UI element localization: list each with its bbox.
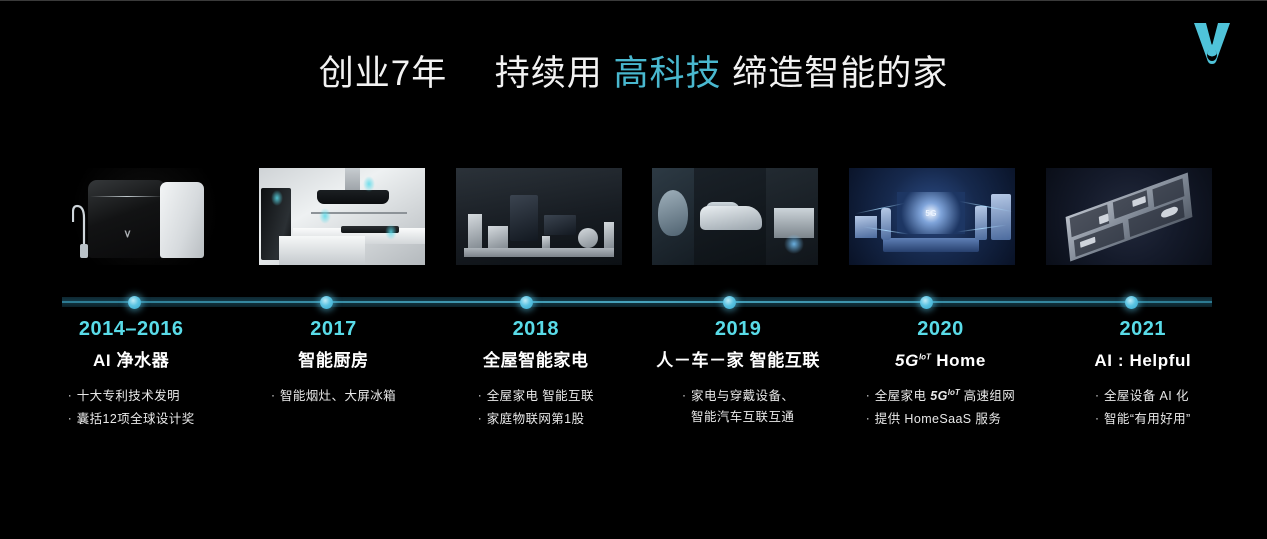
faucet-icon: [72, 196, 94, 258]
title-part-2: 持续用: [495, 54, 603, 93]
milestone-bullet-list: ·十大专利技术发明·囊括12项全球设计奖: [68, 386, 195, 429]
driver-portrait: [658, 190, 688, 236]
bullet-dot-icon: ·: [1095, 409, 1104, 429]
milestone-year: 2019: [641, 317, 835, 341]
heading-5g-label: 5GIoT: [895, 351, 931, 370]
milestone-column: 20205GIoT Home·全屋家电 5GIoT 高速组网·提供 HomeSa…: [839, 317, 1041, 457]
heading-iot-superscript: IoT: [919, 352, 931, 361]
bullet-dot-icon: ·: [866, 386, 875, 406]
milestone-bullet: ·十大专利技术发明: [68, 386, 195, 407]
milestone-bullet: ·全屋家电 智能互联: [478, 386, 594, 407]
milestone-column: 2014–2016AI 净水器·十大专利技术发明·囊括12项全球设计奖: [30, 317, 232, 457]
timeline-dot[interactable]: [1125, 296, 1138, 309]
milestone-bullet-list: ·家电与穿戴设备、智能汽车互联互通: [682, 386, 794, 427]
thumbnail-row: 5G: [62, 168, 1212, 265]
milestone-bullet: ·智能“有用好用”: [1095, 409, 1191, 430]
thumbnail-whole-house-appliances: [456, 168, 622, 265]
slide-title: 创业7年 持续用 高科技 缔造智能的家: [0, 45, 1267, 96]
milestone-column: 2017智能厨房·智能烟灶、大屏冰箱: [232, 317, 434, 457]
title-highlight: 高科技: [613, 54, 721, 93]
milestone-bullet-list: ·智能烟灶、大屏冰箱: [271, 386, 396, 407]
kitchen-range-hood: [317, 190, 389, 204]
milestone-heading: 智能厨房: [236, 350, 430, 371]
electric-suv: [700, 206, 762, 230]
purifier-white-unit: [160, 182, 204, 258]
5g-screen-label: 5G: [897, 209, 965, 218]
bullet-5g-label: 5GIoT: [930, 389, 959, 403]
bullet-dot-icon: ·: [478, 386, 487, 406]
milestone-bullet-text: 智能“有用好用”: [1104, 409, 1191, 430]
milestone-bullet-text: 囊括12项全球设计奖: [77, 409, 195, 430]
milestone-bullet: ·全屋设备 AI 化: [1095, 386, 1191, 407]
milestone-bullet: ·智能烟灶、大屏冰箱: [271, 386, 396, 407]
appliance-fridge-screen: [510, 195, 538, 241]
kitchen-hood-stack: [345, 168, 360, 192]
milestone-bullet-list: ·全屋家电 智能互联·家庭物联网第1股: [478, 386, 594, 429]
bullet-iot-superscript: IoT: [948, 388, 960, 397]
5g-device-2: [881, 208, 891, 240]
appliance-2: [488, 226, 508, 248]
thumbnail-5g-iot-home: 5G: [849, 168, 1015, 265]
timeline-dot[interactable]: [920, 296, 933, 309]
5g-tv-stand: [883, 238, 979, 252]
timeline-dot[interactable]: [128, 296, 141, 309]
bullet-dot-icon: ·: [68, 386, 77, 406]
purifier-black-unit: [88, 180, 166, 258]
timeline-dots: [62, 296, 1212, 308]
timeline-dot[interactable]: [320, 296, 333, 309]
thumbnail-person-car-home: [652, 168, 818, 265]
milestone-bullet-text: 提供 HomeSaaS 服务: [875, 409, 1015, 430]
milestone-bullet: ·提供 HomeSaaS 服务: [866, 409, 1015, 430]
milestone-heading: AI : Helpful: [1046, 350, 1240, 371]
kitchen-glow-3: [363, 176, 375, 192]
kitchen-glow-2: [319, 208, 331, 224]
5g-tv-screen: 5G: [897, 192, 965, 234]
kitchen-island: [279, 236, 365, 265]
5g-device-3: [975, 206, 987, 240]
milestone-bullet-text: 智能烟灶、大屏冰箱: [280, 386, 396, 407]
thumbnail-isometric-home: [1046, 168, 1212, 265]
appliance-washer: [578, 228, 598, 248]
bullet-dot-icon: ·: [1095, 386, 1104, 406]
milestone-bullet-list: ·全屋家电 5GIoT 高速组网·提供 HomeSaaS 服务: [866, 386, 1015, 429]
milestone-columns: 2014–2016AI 净水器·十大专利技术发明·囊括12项全球设计奖2017智…: [30, 317, 1244, 457]
thumbnail-water-purifier: [62, 168, 228, 265]
appliance-3: [542, 236, 550, 248]
bullet-dot-icon: ·: [478, 409, 487, 429]
milestone-bullet: ·家电与穿戴设备、: [682, 386, 794, 407]
bullet-dot-icon: ·: [866, 409, 875, 429]
milestone-column: 2018全屋智能家电·全屋家电 智能互联·家庭物联网第1股: [435, 317, 637, 457]
milestone-bullet-text: 全屋家电 5GIoT 高速组网: [875, 386, 1015, 407]
floorplan-base: [1066, 173, 1193, 262]
milestone-heading: 5GIoT Home: [843, 350, 1037, 371]
milestone-year: 2018: [439, 317, 633, 341]
milestone-bullet-continuation: 智能汽车互联互通: [682, 407, 794, 428]
kitchen-glow-4: [385, 224, 397, 240]
bullet-dot-icon: ·: [68, 409, 77, 429]
milestone-bullet: ·全屋家电 5GIoT 高速组网: [866, 386, 1015, 407]
appliance-tv-screen: [544, 215, 576, 235]
milestone-bullet-text: 家庭物联网第1股: [487, 409, 594, 430]
milestone-bullet-text: 全屋家电 智能互联: [487, 386, 594, 407]
milestone-bullet: ·家庭物联网第1股: [478, 409, 594, 430]
milestone-column: 2019人－车－家 智能互联·家电与穿戴设备、智能汽车互联互通: [637, 317, 839, 457]
title-part-1: 创业7年: [319, 54, 447, 93]
appliance-plinth: [464, 248, 614, 257]
kitchen-glow-1: [271, 190, 283, 206]
timeline-dot[interactable]: [723, 296, 736, 309]
milestone-heading: 全屋智能家电: [439, 350, 633, 371]
timeline: [62, 296, 1212, 308]
timeline-dot[interactable]: [520, 296, 533, 309]
bullet-dot-icon: ·: [682, 386, 691, 406]
milestone-bullet-text: 十大专利技术发明: [77, 386, 195, 407]
milestone-year: 2021: [1046, 317, 1240, 341]
title-part-3: 缔造智能的家: [732, 54, 948, 93]
appliance-1: [468, 214, 482, 248]
milestone-heading: AI 净水器: [34, 350, 228, 371]
milestone-year: 2014–2016: [34, 317, 228, 341]
purifier-brand-mark-icon: [124, 230, 131, 238]
milestone-bullet-list: ·全屋设备 AI 化·智能“有用好用”: [1095, 386, 1191, 429]
milestone-bullet: ·囊括12项全球设计奖: [68, 409, 195, 430]
bullet-dot-icon: ·: [271, 386, 280, 406]
milestone-year: 2017: [236, 317, 430, 341]
thumbnail-smart-kitchen: [259, 168, 425, 265]
appliance-4: [604, 222, 614, 248]
milestone-bullet-text: 全屋设备 AI 化: [1104, 386, 1191, 407]
5g-device-4: [991, 194, 1011, 240]
milestone-column: 2021AI : Helpful·全屋设备 AI 化·智能“有用好用”: [1042, 317, 1244, 457]
presentation-slide: 创业7年 持续用 高科技 缔造智能的家: [0, 0, 1267, 539]
milestone-bullet-text: 家电与穿戴设备、: [691, 386, 794, 407]
milestone-heading: 人－车－家 智能互联: [641, 350, 835, 371]
milestone-year: 2020: [843, 317, 1037, 341]
